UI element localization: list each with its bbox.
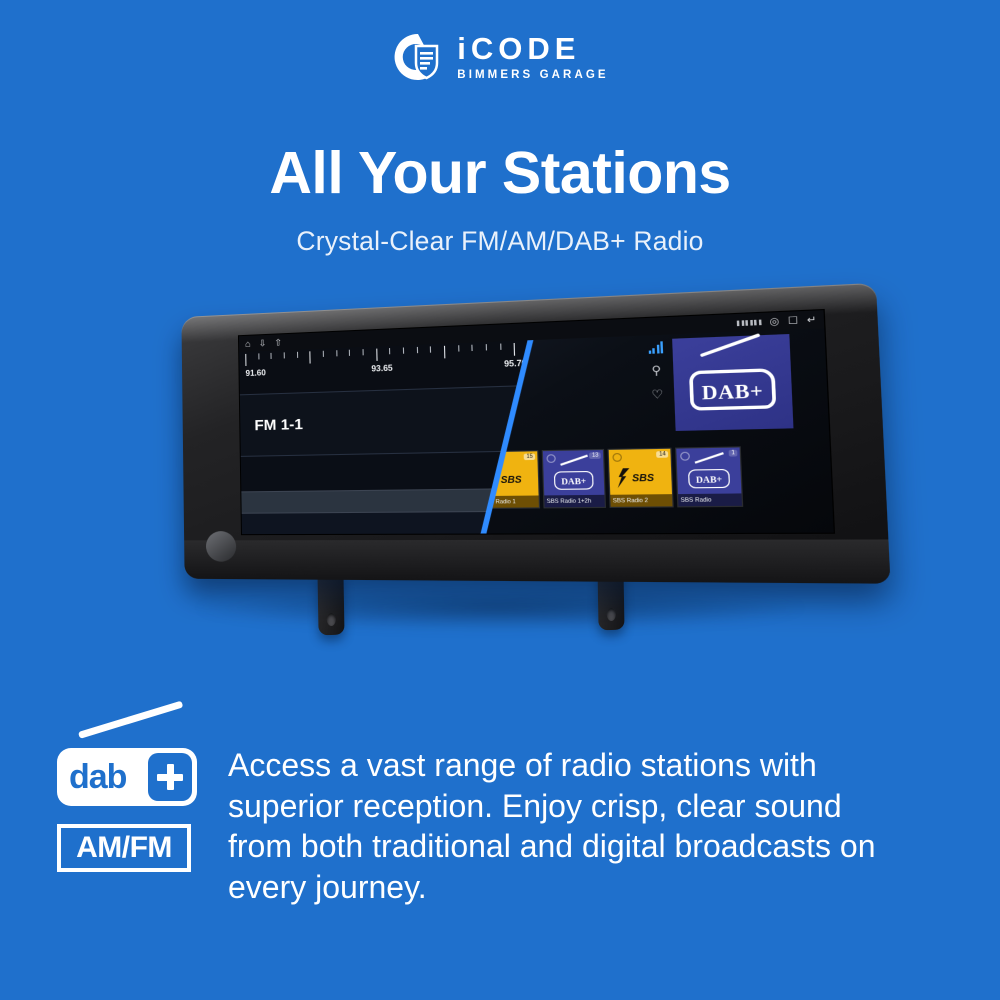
- back-icon[interactable]: ↵: [807, 314, 817, 324]
- band-label: FM 1-1: [240, 415, 303, 434]
- dial-label: 91.60: [245, 368, 265, 378]
- feature-description-text: Access a vast range of radio stations wi…: [228, 745, 908, 908]
- dab-plus-badge: dab: [57, 734, 197, 806]
- signal-dots-icon: [737, 319, 761, 326]
- station-tile[interactable]: 14 SBS SBS Radio 2: [609, 449, 673, 507]
- home-icon[interactable]: ⌂: [245, 339, 251, 348]
- brand-logo: iCODE BIMMERS GARAGE: [0, 30, 1000, 84]
- antenna-icon: [78, 701, 183, 739]
- promo-canvas: iCODE BIMMERS GARAGE All Your Stations C…: [0, 0, 1000, 1000]
- icode-shield-logo-icon: [391, 30, 445, 84]
- amfm-badge: AM/FM: [57, 824, 191, 872]
- plus-icon: [148, 753, 192, 801]
- signal-bars-icon: [648, 341, 663, 354]
- mount-bracket-left: [317, 573, 344, 635]
- station-badge-icon: [612, 453, 622, 462]
- update-icon: ⇧: [274, 338, 282, 347]
- station-badge-icon: [546, 454, 555, 463]
- station-label: SBS Radio 2: [610, 494, 672, 507]
- amfm-badge-text: AM/FM: [76, 831, 172, 865]
- dab-logo-text: DAB+: [687, 379, 779, 405]
- preset-cell[interactable]: .10: [242, 512, 520, 534]
- device-screen[interactable]: ⌂ ⇩ ⇧ ◎ ☐ ↵: [239, 310, 834, 534]
- bezel-bottom: [184, 539, 890, 583]
- station-tile[interactable]: 1 DAB+ SBS Radio: [676, 447, 742, 506]
- favorite-heart-icon[interactable]: ♡: [651, 389, 663, 401]
- station-number: 13: [589, 452, 600, 459]
- location-icon: ◎: [769, 316, 779, 326]
- station-number: 14: [657, 451, 669, 458]
- station-artwork: DAB+: [688, 461, 730, 488]
- head-unit-device: ⌂ ⇩ ⇧ ◎ ☐ ↵: [150, 300, 850, 700]
- screenshot-icon[interactable]: ☐: [788, 315, 799, 325]
- station-badge-icon: [680, 452, 690, 461]
- feature-description: Access a vast range of radio stations wi…: [228, 745, 908, 908]
- station-number: 15: [524, 453, 535, 460]
- station-label: SBS Radio 1+2h: [544, 495, 605, 508]
- page-subtitle: Crystal-Clear FM/AM/DAB+ Radio: [0, 226, 1000, 257]
- dab-now-playing-tile[interactable]: DAB+: [672, 334, 793, 431]
- station-label: SBS Radio: [678, 493, 742, 506]
- dab-plus-logo-icon: DAB+: [686, 352, 779, 413]
- device-shadow: [190, 585, 810, 631]
- format-badges: dab AM/FM: [57, 734, 207, 872]
- dab-side-icons: ⚲ ♡: [648, 341, 665, 402]
- station-artwork: DAB+: [554, 463, 594, 490]
- brand-tagline: BIMMERS GARAGE: [457, 70, 608, 82]
- station-artwork: SBS: [614, 464, 667, 491]
- dab-badge-text: dab: [57, 760, 126, 794]
- station-tile[interactable]: 13 DAB+ SBS Radio 1+2h: [543, 450, 605, 507]
- page-title: All Your Stations: [0, 139, 1000, 207]
- search-icon[interactable]: ⚲: [651, 365, 661, 377]
- device-bezel: ⌂ ⇩ ⇧ ◎ ☐ ↵: [181, 283, 890, 584]
- download-icon: ⇩: [259, 338, 267, 347]
- preset-cell[interactable]: .50: [241, 489, 519, 513]
- brand-name: iCODE: [457, 33, 608, 64]
- dial-label: 93.65: [371, 363, 393, 373]
- station-number: 1: [729, 450, 738, 457]
